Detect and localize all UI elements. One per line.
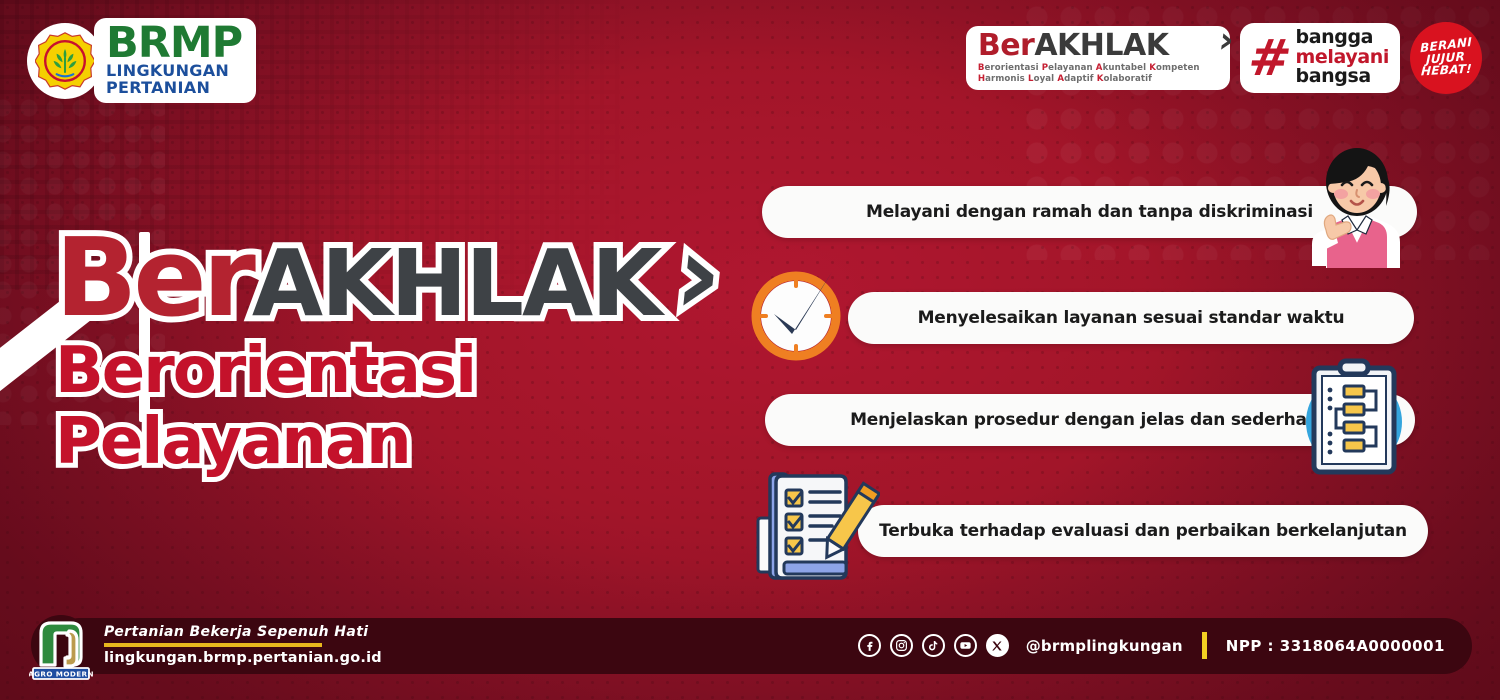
berakhlak-badge: BerAKHLAK Berorientasi Pelayanan Akuntab… bbox=[966, 26, 1230, 90]
point-text-2: Menyelesaikan layanan sesuai standar wak… bbox=[918, 308, 1345, 328]
hero-line-pelayanan: Pelayanan bbox=[55, 410, 660, 475]
bangga-word: bangga bbox=[1296, 28, 1389, 47]
berakhlak-badge-suffix: AKHLAK bbox=[1034, 28, 1168, 63]
x-twitter-icon[interactable] bbox=[986, 634, 1009, 657]
social-handle[interactable]: @brmplingkungan bbox=[1026, 637, 1183, 655]
clipboard-flowchart-icon bbox=[1292, 358, 1417, 480]
berakhlak-badge-prefix: Ber bbox=[978, 28, 1035, 63]
svg-text:AGRO MODERN: AGRO MODERN bbox=[29, 669, 93, 678]
footer-separator bbox=[1202, 632, 1207, 659]
berani-jujur-hebat-badge: BERANI JUJUR HEBAT! bbox=[1410, 22, 1482, 94]
footer-brand: AGRO MODERN bbox=[28, 612, 94, 684]
brmp-word: BRMP bbox=[106, 23, 242, 63]
berakhlak-badge-title: BerAKHLAK bbox=[978, 31, 1200, 61]
brmp-logo: BRMP LINGKUNGAN PERTANIAN bbox=[30, 18, 256, 103]
banner-canvas: BRMP LINGKUNGAN PERTANIAN BerAKHLAK Bero… bbox=[0, 0, 1500, 700]
clock-check-icon bbox=[748, 268, 844, 364]
point-pill-2: Menyelesaikan layanan sesuai standar wak… bbox=[848, 292, 1414, 344]
hero-headline: BerAKHLAK › Berorientasi Pelayanan bbox=[55, 228, 660, 475]
hero-chevron-right-icon: › bbox=[671, 222, 724, 328]
bangga-melayani-words: bangga melayani bangsa bbox=[1296, 28, 1389, 86]
point-text-1: Melayani dengan ramah dan tanpa diskrimi… bbox=[866, 202, 1313, 222]
point-pill-4: Terbuka terhadap evaluasi dan perbaikan … bbox=[858, 505, 1428, 557]
brmp-sub-line2: PERTANIAN bbox=[106, 80, 242, 96]
berakhlak-values: Berorientasi Pelayanan Akuntabel Kompete… bbox=[978, 63, 1200, 84]
youtube-icon[interactable] bbox=[954, 634, 977, 657]
berakhlak-values-line1: Berorientasi Pelayanan Akuntabel Kompete… bbox=[978, 63, 1200, 74]
hebat-word: HEBAT! bbox=[1420, 63, 1472, 78]
chevron-right-icon: › bbox=[1216, 20, 1237, 61]
footer-website[interactable]: lingkungan.brmp.pertanian.go.id bbox=[104, 650, 382, 666]
bangsa-word: bangsa bbox=[1296, 67, 1389, 86]
point-text-3: Menjelaskan prosedur dengan jelas dan se… bbox=[850, 410, 1330, 430]
hero-akhlak: AKHLAK bbox=[252, 230, 661, 337]
top-right-badge-group: BerAKHLAK Berorientasi Pelayanan Akuntab… bbox=[966, 22, 1482, 94]
footer-social-block: @brmplingkungan NPP : 3318064A0000001 bbox=[858, 632, 1445, 659]
hashtag-icon: # bbox=[1246, 38, 1294, 78]
brmp-wordmark: BRMP LINGKUNGAN PERTANIAN bbox=[94, 18, 256, 103]
hero-line-berakhlak: BerAKHLAK › bbox=[55, 228, 660, 331]
point-text-4: Terbuka terhadap evaluasi dan perbaikan … bbox=[879, 521, 1407, 541]
instagram-icon[interactable] bbox=[890, 634, 913, 657]
bangga-melayani-bangsa-badge: # bangga melayani bangsa bbox=[1240, 23, 1400, 92]
hero-ber: Ber bbox=[55, 216, 252, 341]
checklist-pencil-icon bbox=[752, 466, 880, 586]
npp-label: NPP : 3318064A0000001 bbox=[1226, 637, 1445, 655]
kementerian-pertanian-emblem-icon bbox=[30, 26, 100, 96]
footer-text-block: Pertanian Bekerja Sepenuh Hati lingkunga… bbox=[104, 624, 382, 666]
hero-line-berorientasi: Berorientasi bbox=[55, 339, 660, 404]
person-thumbs-up-icon bbox=[1292, 138, 1422, 268]
agro-modern-logo-icon: AGRO MODERN bbox=[28, 612, 94, 684]
facebook-icon[interactable] bbox=[858, 634, 881, 657]
footer-tagline: Pertanian Bekerja Sepenuh Hati bbox=[104, 624, 382, 640]
tiktok-icon[interactable] bbox=[922, 634, 945, 657]
berakhlak-values-line2: Harmonis Loyal Adaptif Kolaboratif bbox=[978, 74, 1200, 85]
footer-divider bbox=[104, 643, 322, 647]
